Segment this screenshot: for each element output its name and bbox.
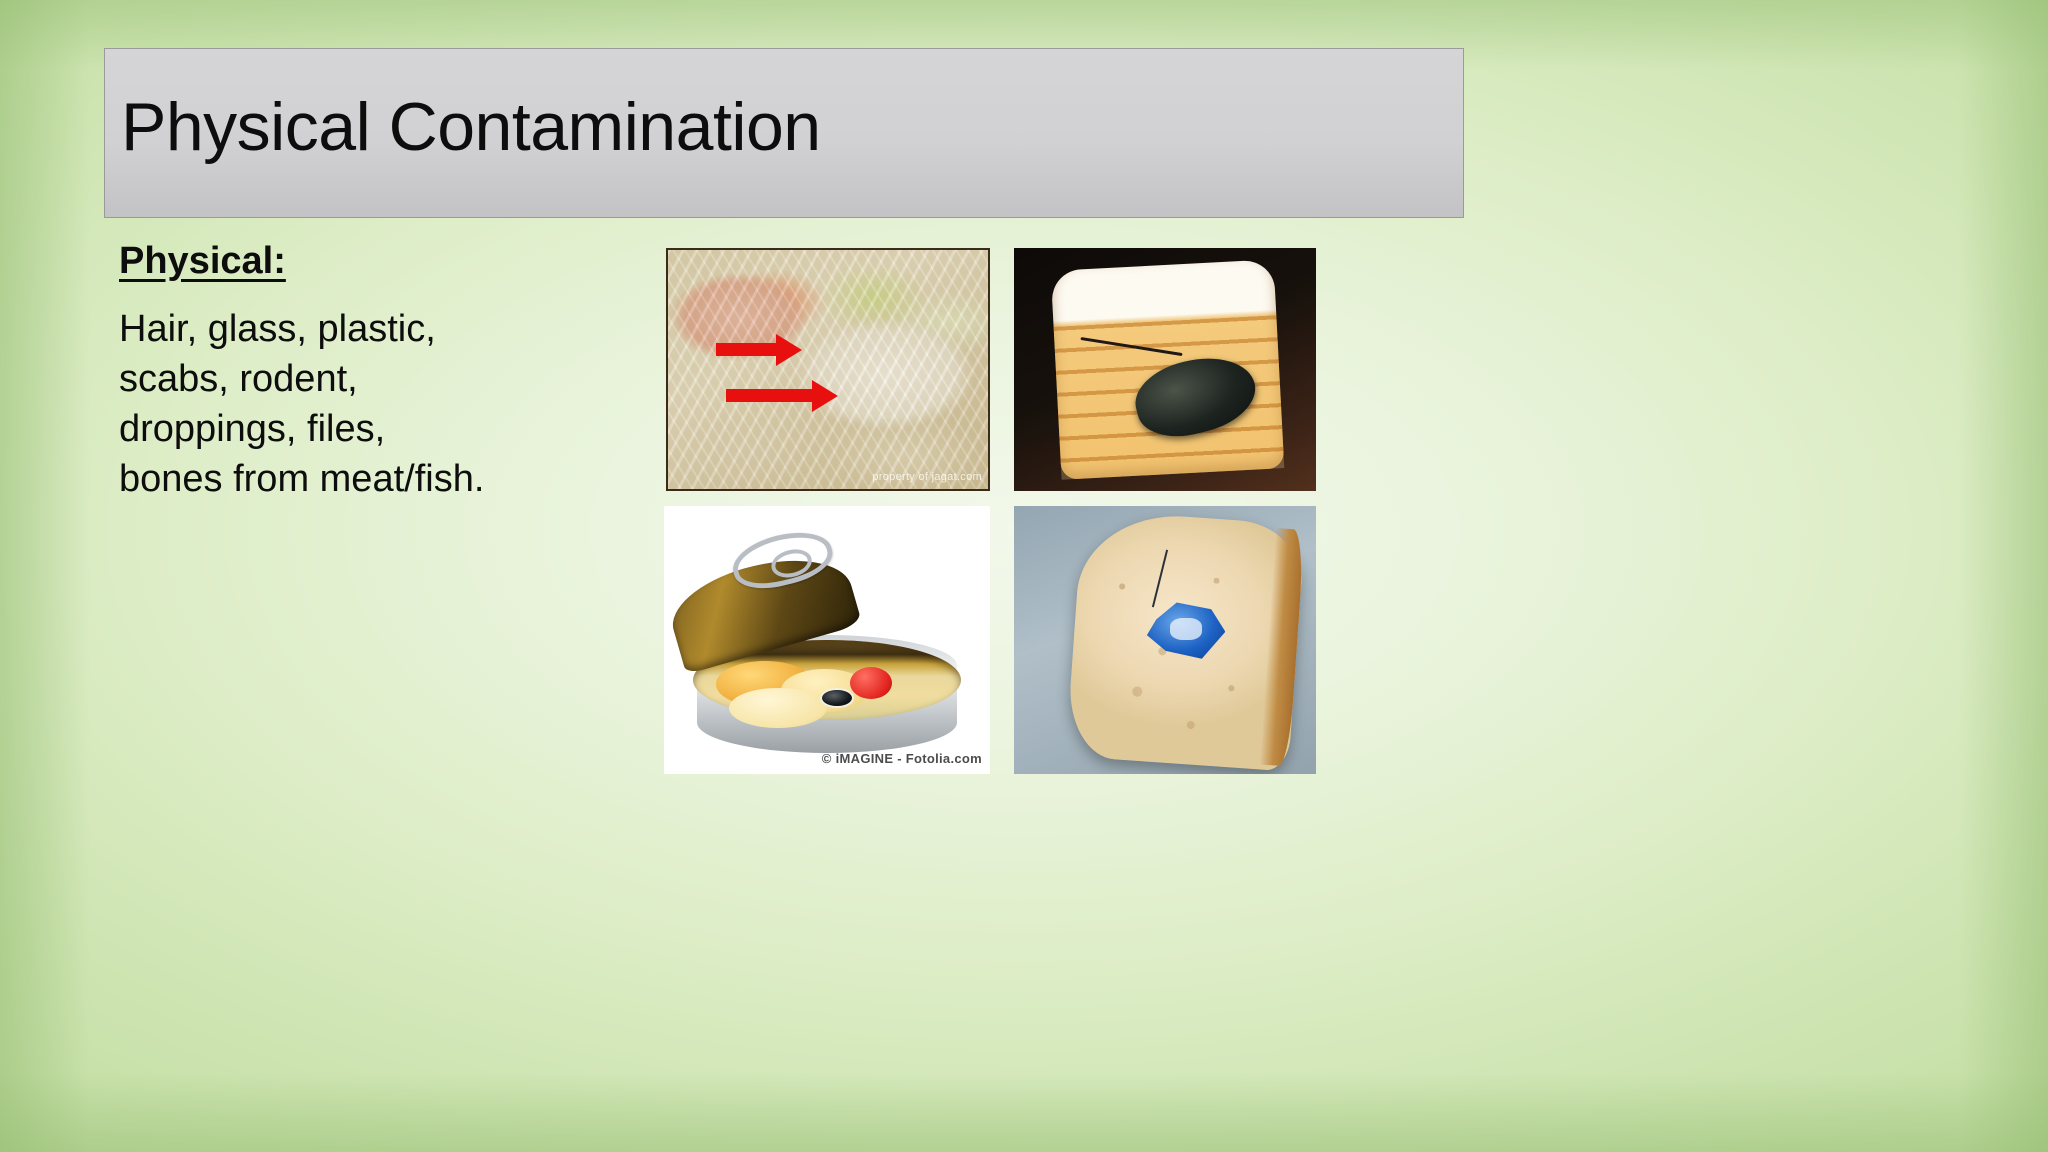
body-paragraph: Hair, glass, plastic, scabs, rodent, dro…	[119, 304, 489, 505]
slide-canvas: Physical Contamination Physical: Hair, g…	[0, 0, 2048, 1152]
photo-noodles-contamination[interactable]: property of jagat.com	[666, 248, 990, 491]
image-watermark: © iMAGINE - Fotolia.com	[822, 751, 982, 766]
photo-bread-with-plastic[interactable]	[1014, 506, 1316, 774]
photo-toast-with-mouse[interactable]	[1014, 248, 1316, 491]
body-text-placeholder[interactable]: Physical: Hair, glass, plastic, scabs, r…	[119, 240, 559, 504]
cherry	[850, 667, 892, 699]
title-placeholder[interactable]: Physical Contamination	[104, 48, 1464, 218]
photo-can-with-insect[interactable]: © iMAGINE - Fotolia.com	[664, 506, 990, 774]
noodle-texture-overlay	[668, 250, 988, 489]
page-title: Physical Contamination	[121, 93, 821, 161]
body-heading: Physical:	[119, 240, 559, 284]
image-watermark: property of jagat.com	[872, 471, 982, 483]
red-arrow-icon	[716, 343, 778, 356]
red-arrow-icon	[726, 389, 814, 402]
bread-crust	[1260, 528, 1305, 766]
